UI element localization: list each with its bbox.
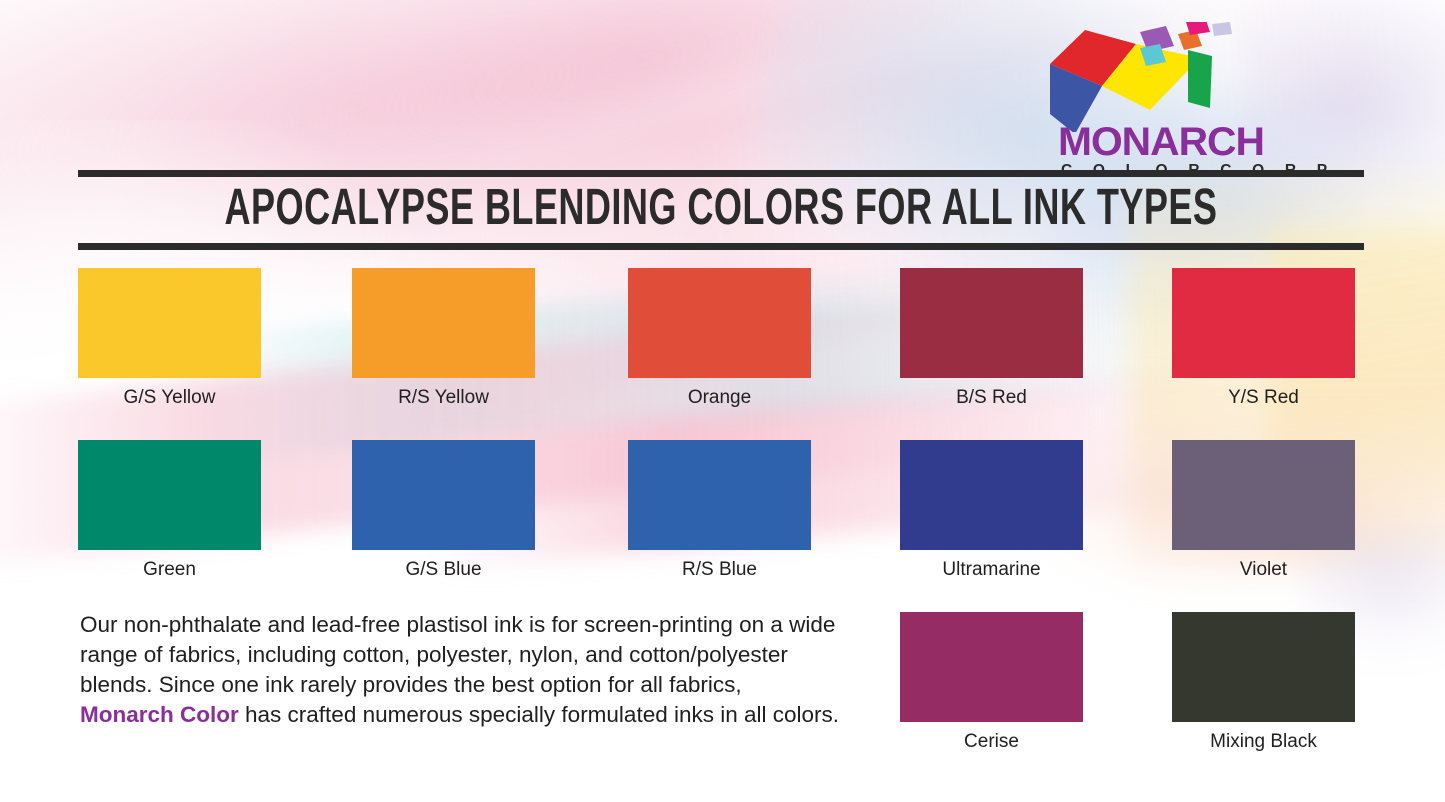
swatch-color-chip[interactable]	[352, 268, 535, 378]
swatch-color-chip[interactable]	[900, 440, 1083, 550]
body-copy-part1: Our non-phthalate and lead-free plastiso…	[80, 612, 835, 697]
swatch-r-s-blue[interactable]: R/S Blue	[628, 440, 811, 581]
swatch-r-s-yellow[interactable]: R/S Yellow	[352, 268, 535, 409]
swatch-label: Cerise	[900, 731, 1083, 753]
swatch-color-chip[interactable]	[628, 268, 811, 378]
swatch-label: Y/S Red	[1172, 387, 1355, 409]
swatch-label: R/S Yellow	[352, 387, 535, 409]
title-rule-bottom	[78, 243, 1364, 250]
swatch-label: G/S Yellow	[78, 387, 261, 409]
swatch-g-s-blue[interactable]: G/S Blue	[352, 440, 535, 581]
swatch-violet[interactable]: Violet	[1172, 440, 1355, 581]
swatch-color-chip[interactable]	[1172, 612, 1355, 722]
body-copy: Our non-phthalate and lead-free plastiso…	[80, 610, 840, 730]
logo-mark-icon	[1040, 22, 1270, 132]
swatch-color-chip[interactable]	[78, 268, 261, 378]
body-copy-highlight: Monarch Color	[80, 702, 239, 727]
swatch-mixing-black[interactable]: Mixing Black	[1172, 612, 1355, 753]
swatch-label: Mixing Black	[1172, 731, 1355, 753]
poster-canvas: MONARCH C O L O R C O R P APOCALYPSE BLE…	[0, 0, 1445, 802]
swatch-ultramarine[interactable]: Ultramarine	[900, 440, 1083, 581]
swatch-orange[interactable]: Orange	[628, 268, 811, 409]
swatch-label: Green	[78, 559, 261, 581]
swatch-label: R/S Blue	[628, 559, 811, 581]
monarch-color-corp-logo[interactable]: MONARCH C O L O R C O R P	[1040, 22, 1360, 172]
body-copy-part2: has crafted numerous specially formulate…	[239, 702, 839, 727]
page-title: APOCALYPSE BLENDING COLORS FOR ALL INK T…	[168, 169, 1274, 245]
swatch-color-chip[interactable]	[78, 440, 261, 550]
swatch-label: Orange	[628, 387, 811, 409]
swatch-color-chip[interactable]	[1172, 440, 1355, 550]
swatch-color-chip[interactable]	[1172, 268, 1355, 378]
swatch-cerise[interactable]: Cerise	[900, 612, 1083, 753]
swatch-color-chip[interactable]	[628, 440, 811, 550]
swatch-y-s-red[interactable]: Y/S Red	[1172, 268, 1355, 409]
swatch-label: G/S Blue	[352, 559, 535, 581]
swatch-label: B/S Red	[900, 387, 1083, 409]
logo-wordmark-main: MONARCH	[1058, 122, 1364, 162]
swatch-label: Ultramarine	[900, 559, 1083, 581]
swatch-color-chip[interactable]	[352, 440, 535, 550]
swatch-label: Violet	[1172, 559, 1355, 581]
swatch-green[interactable]: Green	[78, 440, 261, 581]
swatch-color-chip[interactable]	[900, 612, 1083, 722]
swatch-g-s-yellow[interactable]: G/S Yellow	[78, 268, 261, 409]
swatch-color-chip[interactable]	[900, 268, 1083, 378]
swatch-b-s-red[interactable]: B/S Red	[900, 268, 1083, 409]
